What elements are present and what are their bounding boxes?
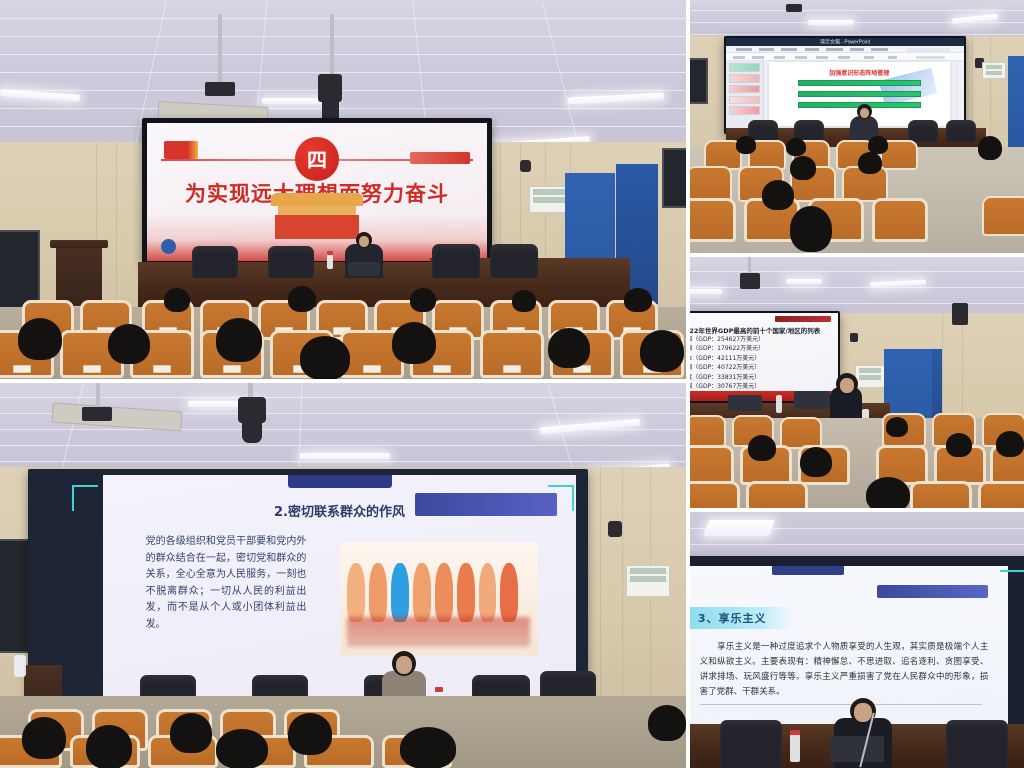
stage-chair — [192, 246, 238, 278]
laptop-icon — [728, 395, 762, 411]
wall-speaker-icon — [952, 303, 968, 325]
audience-head — [410, 288, 436, 312]
stage-chair — [432, 244, 480, 278]
panel-top-left: 四 为实现远大理想而努力奋斗 — [0, 0, 686, 379]
classroom-seat — [978, 481, 1024, 508]
ceiling-light-icon — [703, 520, 775, 536]
slide-mr: 2022年世界GDP最高的前十个国家/地区的列表 美国（GDP：254627万美… — [690, 313, 838, 401]
slide-tab-badge — [287, 475, 391, 488]
lectern-top — [50, 240, 108, 248]
lectern — [56, 244, 102, 306]
audience-head — [288, 713, 332, 755]
classroom-room-br: 3、享乐主义 享乐主义是一种过度追求个人物质享受的人生观，其实质是极端个人主义和… — [690, 512, 1024, 768]
panel-middle-right: 2022年世界GDP最高的前十个国家/地区的列表 美国（GDP：254627万美… — [690, 257, 1024, 508]
classroom-seat — [690, 166, 732, 202]
gdp-row: 中国（GDP：179622万美元） — [690, 344, 831, 353]
auditorium-seat — [480, 330, 544, 378]
corner-bracket-icon — [548, 485, 574, 511]
exit-sign-icon — [855, 365, 885, 388]
projector-icon — [786, 4, 802, 12]
water-bottle-icon — [14, 655, 26, 677]
gdp-row: 印度（GDP：33831万美元） — [690, 373, 831, 382]
photo-collage: 四 为实现远大理想而努力奋斗 — [0, 0, 1024, 768]
audience-head — [640, 330, 684, 372]
spotlight-icon — [318, 74, 342, 102]
classroom-seat — [872, 198, 928, 242]
audience-head — [22, 717, 66, 759]
stage-chair — [268, 246, 314, 278]
slide-chapter-badge: 四 — [295, 137, 339, 181]
ppt-titlebar: 演示文稿 - PowerPoint — [726, 38, 964, 46]
audience-head — [548, 328, 590, 368]
slide-decor-bar — [410, 152, 470, 164]
stage-chair — [946, 720, 1008, 768]
stage-chair — [946, 120, 976, 142]
exit-sign-icon — [529, 186, 569, 213]
audience-head — [624, 288, 652, 312]
projection-screen-frame-mr: 2022年世界GDP最高的前十个国家/地区的列表 美国（GDP：254627万美… — [690, 311, 840, 403]
spotlight-icon — [238, 397, 266, 423]
projector-icon — [82, 407, 112, 421]
presenter-face — [840, 378, 854, 393]
auditorium-room-tl: 四 为实现远大理想而努力奋斗 — [0, 0, 686, 379]
exit-sign-icon — [626, 565, 670, 597]
ceiling-light-icon — [690, 289, 722, 294]
wall-speaker-icon — [850, 333, 858, 342]
audience-head — [288, 286, 316, 312]
audience-head — [736, 136, 756, 154]
classroom-seat — [982, 196, 1024, 236]
audience-head — [800, 447, 832, 477]
audience-head — [400, 727, 456, 768]
classroom-room-mr: 2022年世界GDP最高的前十个国家/地区的列表 美国（GDP：254627万美… — [690, 257, 1024, 508]
water-bottle-icon — [776, 395, 782, 413]
audience-head — [866, 477, 910, 508]
water-bottle-icon — [790, 734, 800, 762]
audience-head — [18, 318, 62, 360]
audience-head — [996, 431, 1024, 457]
slide-body-bl: 党的各级组织和党员干部要和党内外的群众结合在一起，密切党和群众的关系，全心全意为… — [146, 534, 307, 633]
door-icon — [1008, 56, 1024, 152]
ppt-slide-title: 加强意识形态阵地管理 — [801, 68, 917, 77]
audience-head — [946, 433, 972, 457]
ppt-ribbon-tabs[interactable] — [726, 46, 964, 53]
panel-bottom-left: 2.密切联系群众的作风 党的各级组织和党员干部要和党内外的群众结合在一起，密切党… — [0, 383, 686, 768]
water-bottle-icon — [327, 254, 333, 269]
corner-bracket-icon — [1000, 570, 1024, 596]
party-flag-icon — [164, 141, 198, 159]
ppt-toolbar[interactable] — [726, 53, 964, 61]
audience-head — [748, 435, 776, 461]
auditorium-room-bl: 2.密切联系群众的作风 党的各级组织和党员干部要和党内外的群众结合在一起，密切党… — [0, 383, 686, 768]
classroom-seat — [690, 481, 740, 508]
audience-head — [886, 417, 908, 437]
audience-head — [300, 336, 350, 379]
audience-head — [216, 318, 262, 362]
people-holding-hands-illustration — [340, 542, 539, 656]
exit-sign-icon — [982, 62, 1006, 79]
laptop-icon — [348, 262, 380, 276]
ceiling-light-icon — [300, 453, 390, 459]
classroom-seat — [690, 445, 734, 485]
audience-head — [786, 138, 806, 156]
ceiling-light-icon — [786, 279, 822, 284]
panel-bottom-right: 3、享乐主义 享乐主义是一种过度追求个人物质享受的人生观，其实质是极端个人主义和… — [690, 512, 1024, 768]
classroom-seat — [690, 198, 736, 242]
slide-underline — [700, 704, 982, 705]
corner-bracket-icon — [72, 485, 98, 511]
slide-tab-badge — [772, 566, 844, 575]
school-emblem-icon — [161, 239, 176, 254]
slide-header-bar — [775, 316, 831, 322]
audience-head — [170, 713, 212, 753]
audience-head — [978, 136, 1002, 160]
audience-head — [392, 322, 436, 364]
audience-head — [512, 290, 536, 312]
stage-chair — [490, 244, 538, 278]
audience-head — [86, 725, 132, 768]
presenter-face — [860, 108, 869, 118]
laptop-icon — [794, 391, 830, 409]
slide-body-br: 享乐主义是一种过度追求个人物质享受的人生观，其实质是极端个人主义和纵欲主义。主要… — [700, 640, 989, 700]
slide-tr: 演示文稿 - PowerPoint — [726, 38, 964, 132]
slide-tl: 四 为实现远大理想而努力奋斗 — [147, 123, 487, 261]
presenter-face — [396, 656, 412, 674]
stage-chair — [720, 720, 782, 768]
presenter-face — [359, 236, 369, 247]
tiananmen-gate-icon — [271, 193, 363, 239]
classroom-seat — [690, 415, 726, 447]
spotlight-icon — [242, 421, 262, 443]
slide-heading-bl: 2.密切联系群众的作风 — [103, 501, 576, 520]
slide-title-mr: 2022年世界GDP最高的前十个国家/地区的列表 — [690, 325, 830, 335]
audience-head — [216, 729, 268, 768]
ppt-window-title: 演示文稿 - PowerPoint — [820, 39, 870, 46]
projector-icon — [205, 82, 235, 96]
audience-head — [858, 152, 882, 174]
audience-head — [762, 180, 794, 210]
stage-chair — [908, 120, 938, 142]
gdp-row: 美国（GDP：254627万美元） — [690, 335, 831, 344]
projector-icon — [740, 273, 760, 289]
slide-heading-br: 3、享乐主义 — [690, 607, 792, 629]
wall-speaker-icon — [520, 160, 531, 172]
audience-head — [790, 156, 816, 180]
audience-head — [648, 705, 686, 741]
ppt-vertical-ruler — [957, 62, 962, 126]
classroom-seat — [746, 481, 808, 508]
ceiling-light-icon — [808, 20, 854, 25]
slide-corner-badge — [877, 585, 989, 598]
audience-head — [108, 324, 150, 364]
side-display-panel — [690, 58, 708, 104]
wall-speaker-icon — [608, 521, 622, 537]
audience-head — [790, 206, 832, 252]
audience-head — [164, 288, 190, 312]
panel-top-right: 演示文稿 - PowerPoint — [690, 0, 1024, 253]
ppt-green-bar — [798, 91, 921, 97]
classroom-seat — [910, 481, 972, 508]
ppt-green-bar — [798, 80, 921, 86]
gdp-row: 德国（GDP：40722万美元） — [690, 363, 831, 372]
classroom-room-tr: 演示文稿 - PowerPoint — [690, 0, 1024, 253]
side-display-panel — [662, 148, 686, 208]
gdp-row: 日本（GDP：42111万美元） — [690, 354, 831, 363]
presenter-face — [854, 703, 872, 722]
laptop-icon — [830, 736, 884, 762]
